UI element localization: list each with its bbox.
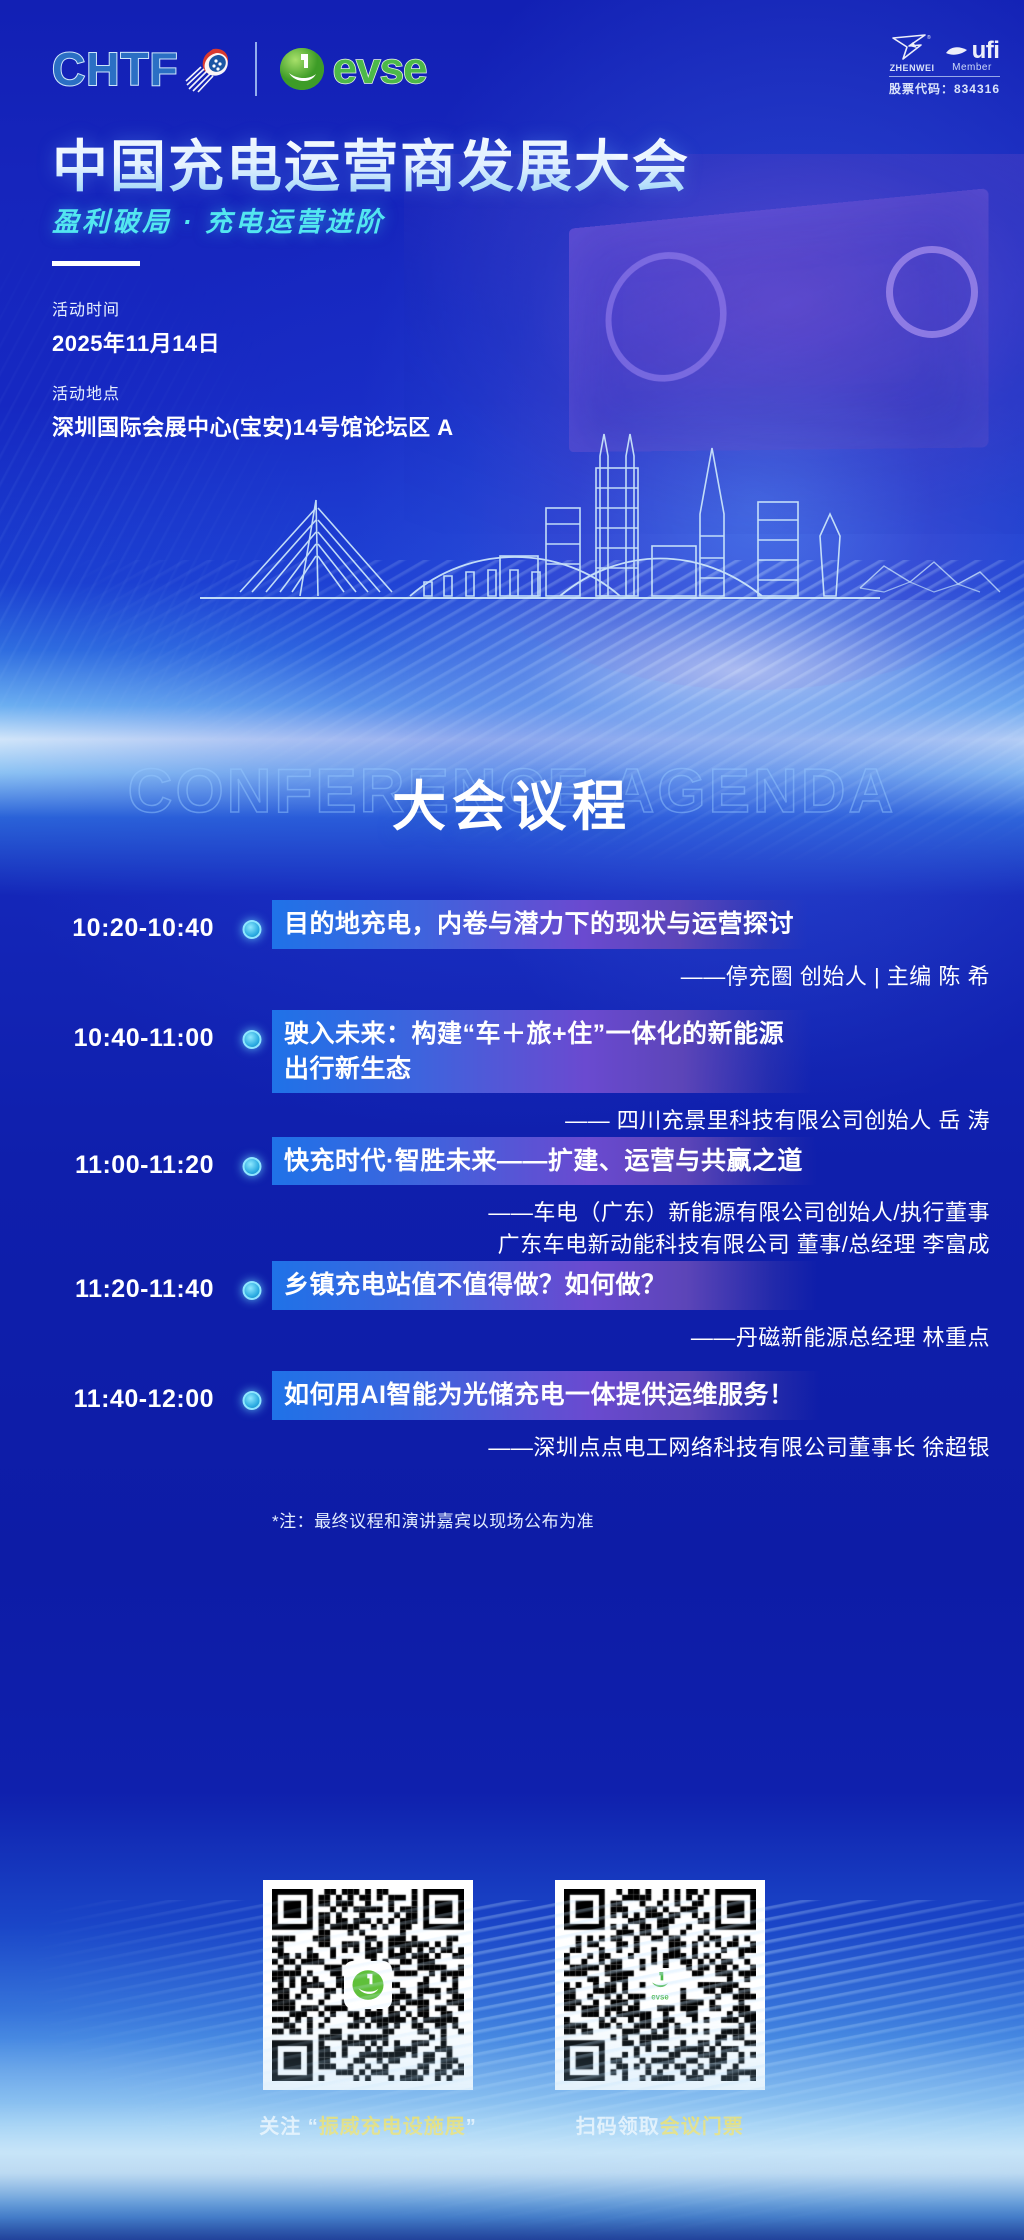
ufi-member-text: Member (952, 62, 992, 73)
agenda-item-content: 如何用AI智能为光储充电一体提供运维服务！ ——深圳点点电工网络科技有限公司董事… (272, 1371, 1024, 1463)
qr-item-follow[interactable]: 关注 “振威充电设施展” (259, 1880, 477, 2139)
evse-leaf-icon: evse (638, 1963, 682, 2007)
agenda-item-speaker-line: 广东车电新动能科技有限公司 董事/总经理 李富成 (272, 1229, 990, 1261)
qr-code-ticket-icon[interactable]: evse (555, 1880, 765, 2090)
timeline-dot-icon (243, 1030, 262, 1049)
event-place-value: 深圳国际会展中心(宝安)14号馆论坛区 A (52, 410, 454, 442)
hero-section: 中国充电运营商发展大会 盈利破局 · 充电运营进阶 活动时间 2025年11月1… (0, 96, 1024, 656)
qr-caption-prefix: 关注 “ (259, 2116, 319, 2138)
logo-row: CHTF (52, 42, 427, 96)
agenda-item-speaker: ——停充圈 创始人 | 主编 陈 希 (272, 961, 998, 993)
ufi-member-block: ® ZHENWEI ufi Member 股票代码：834316 (889, 32, 1000, 98)
agenda-item-time: 10:20-10:40 (0, 900, 232, 943)
evse-logo: evse (279, 44, 427, 94)
zhenwei-name-text: ZHENWEI (890, 63, 935, 73)
qr-caption-follow: 关注 “振威充电设施展” (259, 2110, 477, 2139)
agenda-item-speaker: ——车电（广东）新能源有限公司创始人/执行董事 广东车电新动能科技有限公司 董事… (272, 1197, 998, 1261)
agenda-item: 11:40-12:00 如何用AI智能为光储充电一体提供运维服务！ ——深圳点点… (0, 1371, 1024, 1481)
qr-caption-suffix: ” (466, 2116, 477, 2138)
agenda-item-time: 11:40-12:00 (0, 1371, 232, 1414)
agenda-item-content: 乡镇充电站值不值得做？如何做？ ——丹磁新能源总经理 林重点 (272, 1261, 1024, 1353)
ufi-word-text: ufi (972, 40, 1000, 62)
agenda-item-topic: 乡镇充电站值不值得做？如何做？ (272, 1261, 817, 1310)
agenda-item-topic: 如何用AI智能为光储充电一体提供运维服务！ (272, 1371, 821, 1420)
timeline-dot-icon (243, 1157, 262, 1176)
zhenwei-bird-icon: ® (891, 32, 933, 62)
svg-text:®: ® (927, 34, 931, 41)
event-info-block: 活动时间 2025年11月14日 活动地点 深圳国际会展中心(宝安)14号馆论坛… (52, 296, 454, 442)
agenda-item-speaker: ——深圳点点电工网络科技有限公司董事长 徐超银 (272, 1432, 998, 1464)
agenda-item-content: 目的地充电，内卷与潜力下的现状与运营探讨 ——停充圈 创始人 | 主编 陈 希 (272, 900, 1024, 992)
agenda-item-time: 10:40-11:00 (0, 1010, 232, 1053)
agenda-item-topic: 目的地充电，内卷与潜力下的现状与运营探讨 (272, 900, 808, 949)
agenda-item: 10:20-10:40 目的地充电，内卷与潜力下的现状与运营探讨 ——停充圈 创… (0, 900, 1024, 1010)
agenda-note: *注：最终议程和演讲嘉宾以现场公布为准 (272, 1507, 1024, 1532)
stock-code-text: 股票代码：834316 (889, 82, 1000, 96)
evse-leaf-glyph (351, 1968, 385, 2002)
chtf-swoosh-icon (183, 45, 233, 93)
stock-code-line: 股票代码：834316 (889, 76, 1000, 98)
agenda-list: 10:20-10:40 目的地充电，内卷与潜力下的现状与运营探讨 ——停充圈 创… (0, 900, 1024, 1532)
timeline-dot-icon (243, 1281, 262, 1300)
evse-logo-text: evse (333, 44, 427, 94)
ufi-swoosh-icon (945, 44, 969, 58)
agenda-item: 10:40-11:00 驶入未来：构建“车＋旅+住”一体化的新能源出行新生态 —… (0, 1010, 1024, 1137)
agenda-heading-block: CONFERENCE AGENDA 大会议程 (0, 730, 1024, 860)
station-logo-badge (886, 246, 978, 338)
evse-leaf-icon (279, 46, 325, 92)
agenda-item-content: 驶入未来：构建“车＋旅+住”一体化的新能源出行新生态 —— 四川充景里科技有限公… (272, 1010, 1024, 1137)
evse-leaf-glyph: evse (645, 1968, 675, 2002)
agenda-item: 11:20-11:40 乡镇充电站值不值得做？如何做？ ——丹磁新能源总经理 林… (0, 1261, 1024, 1371)
svg-text:evse: evse (651, 1992, 669, 2001)
agenda-item-time: 11:00-11:20 (0, 1137, 232, 1180)
qr-caption-prefix: 扫码领取 (576, 2116, 660, 2138)
agenda-item-topic: 快充时代·智胜未来——扩建、运营与共赢之道 (272, 1137, 817, 1186)
evse-leaf-icon (346, 1963, 390, 2007)
logo-divider (255, 42, 257, 96)
chtf-logo: CHTF (52, 42, 233, 96)
ufi-top-row: ® ZHENWEI ufi Member (889, 32, 1000, 73)
qr-caption-ticket: 扫码领取会议门票 (576, 2110, 744, 2139)
page-subtitle: 盈利破局 · 充电运营进阶 (52, 200, 385, 239)
agenda-item-speaker-line: ——车电（广东）新能源有限公司创始人/执行董事 (272, 1197, 990, 1229)
qr-caption-highlight: 振威充电设施展 (319, 2116, 466, 2138)
agenda-item-content: 快充时代·智胜未来——扩建、运营与共赢之道 ——车电（广东）新能源有限公司创始人… (272, 1137, 1024, 1261)
qr-caption-highlight: 会议门票 (660, 2116, 744, 2138)
event-time-label: 活动时间 (52, 296, 454, 320)
event-time-value: 2025年11月14日 (52, 326, 454, 358)
agenda-item-speaker: ——丹磁新能源总经理 林重点 (272, 1322, 998, 1354)
agenda-item-time: 11:20-11:40 (0, 1261, 232, 1304)
qr-code-wechat-icon[interactable] (263, 1880, 473, 2090)
agenda-item: 11:00-11:20 快充时代·智胜未来——扩建、运营与共赢之道 ——车电（广… (0, 1137, 1024, 1261)
event-poster: CHTF (0, 0, 1024, 2240)
chtf-logo-text: CHTF (52, 42, 179, 96)
page-title: 中国充电运营商发展大会 (52, 122, 690, 203)
agenda-item-topic: 驶入未来：构建“车＋旅+住”一体化的新能源出行新生态 (272, 1010, 812, 1093)
qr-section: 关注 “振威充电设施展” evse 扫码领取会议门票 (0, 1880, 1024, 2139)
agenda-heading-cn: 大会议程 (392, 762, 632, 841)
event-place-label: 活动地点 (52, 380, 454, 404)
ufi-mark: ufi Member (945, 40, 1000, 73)
title-divider (52, 261, 140, 266)
zhenwei-logo: ® ZHENWEI (890, 32, 935, 73)
qr-item-ticket[interactable]: evse 扫码领取会议门票 (555, 1880, 765, 2139)
timeline-dot-icon (243, 920, 262, 939)
timeline-dot-icon (243, 1391, 262, 1410)
agenda-item-speaker: —— 四川充景里科技有限公司创始人 岳 涛 (272, 1105, 998, 1137)
